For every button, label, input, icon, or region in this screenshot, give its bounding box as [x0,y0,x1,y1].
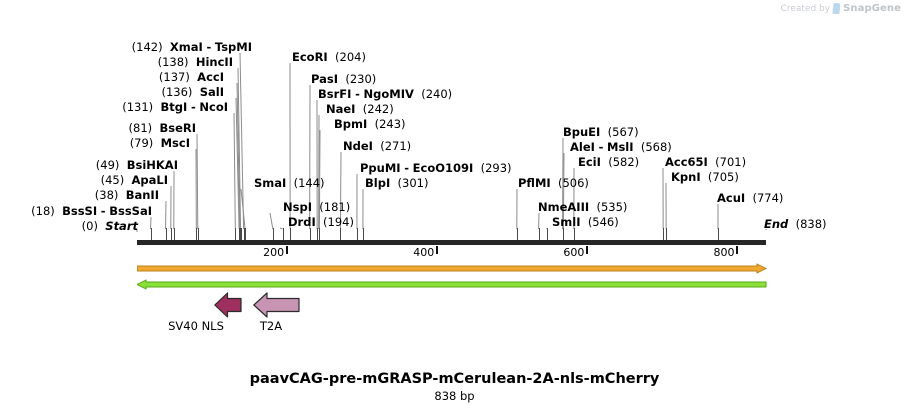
enzyme-label-kpni[interactable]: KpnI (705) [671,171,739,183]
enzyme-label-pasi[interactable]: PasI (230) [311,73,376,85]
sequence-length: 838 bp [0,389,909,403]
enzyme-label-sali[interactable]: (136) SalI [161,86,224,98]
enzyme-name-alt: MslI [607,140,634,154]
enzyme-name: EciI [578,155,601,169]
cut-site-tick [283,228,284,240]
page-title: paavCAG-pre-mGRASP-mCerulean-2A-nls-mChe… [0,371,909,387]
enzyme-name: SalI [200,85,224,99]
enzyme-label-bsssi[interactable]: (18) BssSI - BssSaI [31,205,152,217]
enzyme-position: (79) [130,136,154,150]
enzyme-name: NspI [283,200,312,214]
cut-site-tick [547,228,548,240]
enzyme-position: (243) [375,117,406,131]
enzyme-position: (242) [363,102,394,116]
enzyme-name-alt: NgoMIV [364,87,414,101]
cut-site-tick [235,228,236,240]
enzyme-label-acci[interactable]: (137) AccI [159,71,224,83]
enzyme-label-acui[interactable]: AcuI (774) [717,192,783,204]
enzyme-label-bpmi[interactable]: BpmI (243) [334,118,406,130]
enzyme-name: BlpI [365,176,390,190]
enzyme-name: ApaLI [132,173,169,187]
enzyme-label-smai[interactable]: SmaI (144) [254,177,325,189]
enzyme-name-alt: BssSaI [109,204,152,218]
enzyme-name: AccI [197,70,224,84]
cut-site-tick [539,228,540,240]
enzyme-label-start[interactable]: (0) Start [82,220,138,232]
enzyme-label-hincii[interactable]: (138) HincII [158,56,233,68]
enzyme-position: (506) [558,176,589,190]
enzyme-name-separator: - [599,140,604,154]
enzyme-position: (240) [421,87,452,101]
enzyme-name: MscI [161,136,190,150]
enzyme-name: SmlI [552,215,581,229]
leader-line [240,53,244,229]
enzyme-name: SmaI [254,176,286,190]
enzyme-name: XmaI [170,40,203,54]
cut-site-tick [290,228,291,240]
enzyme-position: (0) [82,219,98,233]
snapgene-logo-icon [833,3,841,14]
feature-arrow-sv40-nls[interactable] [214,292,243,318]
cut-site-tick [310,228,311,240]
enzyme-name-alt: TspMI [215,40,252,54]
enzyme-position: (582) [608,155,639,169]
watermark-prefix: Created by [781,4,831,14]
cut-site-tick [239,228,240,240]
enzyme-name: NdeI [343,139,373,153]
enzyme-position: (81) [129,121,153,135]
t2a-shape [254,293,299,317]
enzyme-name: BanII [126,188,159,202]
enzyme-name-alt: NcoI [199,100,228,114]
cut-site-tick [171,228,172,240]
enzyme-name-separator: - [206,40,211,54]
enzyme-label-ndei[interactable]: NdeI (271) [343,140,411,152]
ruler-scale-label: 400 [413,246,434,259]
enzyme-position: (838) [796,217,827,231]
enzyme-position: (18) [31,204,55,218]
plasmid-map: Created by SnapGene 200400600800 (142) X… [0,0,909,409]
enzyme-name: BpuEI [563,125,600,139]
cut-site-tick [245,228,246,240]
enzyme-label-alei[interactable]: AleI - MslI (568) [570,141,672,153]
enzyme-label-bseri[interactable]: (81) BseRI [129,122,196,134]
enzyme-position: (701) [715,155,746,169]
enzyme-label-bsrfi[interactable]: BsrFI - NgoMIV (240) [318,88,452,100]
sequence-ruler [137,240,766,245]
enzyme-name: BseRI [159,121,196,135]
enzyme-label-apali[interactable]: (45) ApaLI [101,174,168,186]
cut-site-tick [363,228,364,240]
enzyme-position: (137) [159,70,190,84]
enzyme-label-acc65i[interactable]: Acc65I (701) [665,156,746,168]
enzyme-position: (271) [380,139,411,153]
ruler-scale-tick [436,246,438,254]
ruler-scale-label: 800 [713,246,734,259]
enzyme-label-end[interactable]: End (838) [764,218,827,230]
enzyme-position: (45) [101,173,125,187]
enzyme-name: PasI [311,72,338,86]
enzyme-name-separator: - [101,204,106,218]
enzyme-name-separator: - [404,161,409,175]
enzyme-label-banii[interactable]: (38) BanII [95,189,159,201]
enzyme-position: (136) [161,85,192,99]
enzyme-name: BssSI [62,204,97,218]
ruler-scale-label: 600 [563,246,584,259]
enzyme-name: Acc65I [665,155,708,169]
enzyme-name: PpuMI [360,161,401,175]
cut-site-tick [357,228,358,240]
sv40-nls-shape [215,293,241,317]
enzyme-label-ecori[interactable]: EcoRI (204) [292,51,366,63]
enzyme-label-pflmi[interactable]: PflMI (506) [518,177,589,189]
enzyme-position: (204) [335,50,366,64]
enzyme-name: AcuI [717,191,745,205]
enzyme-name: DrdI [288,215,316,229]
cut-site-tick [666,228,667,240]
enzyme-position: (142) [132,40,163,54]
enzyme-name: NmeAIII [538,200,589,214]
enzyme-label-ppumi[interactable]: PpuMI - EcoO109I (293) [360,162,512,174]
enzyme-label-ecii[interactable]: EciI (582) [578,156,639,168]
promoter-track[interactable] [137,263,768,274]
enzyme-position: (49) [96,158,120,172]
enzyme-position: (194) [323,215,354,229]
enzyme-name: End [764,217,788,231]
cut-site-tick [517,228,518,240]
enzyme-position: (546) [588,215,619,229]
enzyme-label-btgi[interactable]: (131) BtgI - NcoI [122,101,228,113]
enzyme-label-smli[interactable]: SmlI (546) [552,216,619,228]
enzyme-position: (38) [95,188,119,202]
ruler-scale-tick [286,246,288,254]
cut-site-tick [718,228,719,240]
enzyme-name: BpmI [334,117,367,131]
leader-line [197,134,198,229]
cut-site-tick [151,228,152,240]
leader-line [236,98,239,229]
ruler-scale-tick [736,246,738,254]
cds-track[interactable] [137,279,768,290]
enzyme-position: (144) [294,176,325,190]
enzyme-position: (131) [122,100,153,114]
enzyme-label-nmeaiii[interactable]: NmeAIII (535) [538,201,627,213]
enzyme-position: (181) [319,200,350,214]
cut-site-tick [273,228,274,240]
enzyme-name: BtgI [161,100,188,114]
enzyme-position: (230) [345,72,376,86]
feature-label-sv40-nls: SV40 NLS [168,319,224,333]
cut-site-tick [574,228,575,240]
feature-arrow-t2a[interactable] [253,292,301,318]
promoter-track-shape [137,264,766,273]
enzyme-name: BsrFI [318,87,351,101]
enzyme-label-drdi[interactable]: DrdI (194) [288,216,354,228]
enzyme-position: (705) [708,170,739,184]
enzyme-position: (138) [158,55,189,69]
enzyme-name-separator: - [355,87,360,101]
watermark-brand: SnapGene [843,3,901,14]
enzyme-label-bsihkai[interactable]: (49) BsiHKAI [96,159,178,171]
enzyme-position: (774) [753,191,784,205]
enzyme-label-naei[interactable]: NaeI (242) [326,103,394,115]
cut-site-tick [319,228,320,240]
cut-site-tick [340,228,341,240]
ruler-scale-tick [586,246,588,254]
leader-line [270,213,273,229]
leader-line [238,68,241,229]
enzyme-position: (301) [398,176,429,190]
leader-line [241,189,245,229]
enzyme-name: NaeI [326,102,355,116]
enzyme-position: (535) [596,200,627,214]
leader-line [234,113,235,229]
cut-site-tick [166,228,167,240]
cut-site-tick [196,228,197,240]
enzyme-position: (567) [608,125,639,139]
enzyme-label-xmai[interactable]: (142) XmaI - TspMI [132,41,252,53]
snapgene-watermark: Created by SnapGene [781,3,901,14]
enzyme-name-alt: EcoO109I [413,161,474,175]
enzyme-label-msci[interactable]: (79) MscI [130,137,190,149]
enzyme-name: HincII [196,55,233,69]
cut-site-tick [563,228,564,240]
enzyme-label-bpuei[interactable]: BpuEI (567) [563,126,639,138]
cut-site-tick [198,228,199,240]
enzyme-position: (568) [641,140,672,154]
ruler-scale-label: 200 [263,246,284,259]
enzyme-name: PflMI [518,176,551,190]
enzyme-name-separator: - [191,100,196,114]
enzyme-label-blpi[interactable]: BlpI (301) [365,177,428,189]
enzyme-name: AleI [570,140,595,154]
feature-label-t2a: T2A [260,319,282,333]
enzyme-name: Start [105,219,138,233]
enzyme-label-nspi[interactable]: NspI (181) [283,201,350,213]
cut-site-tick [174,228,175,240]
enzyme-position: (293) [481,161,512,175]
enzyme-name: KpnI [671,170,701,184]
enzyme-name: EcoRI [292,50,328,64]
cut-site-tick [663,228,664,240]
enzyme-name: BsiHKAI [127,158,178,172]
leader-line [237,83,240,229]
cds-track-shape [137,280,766,289]
